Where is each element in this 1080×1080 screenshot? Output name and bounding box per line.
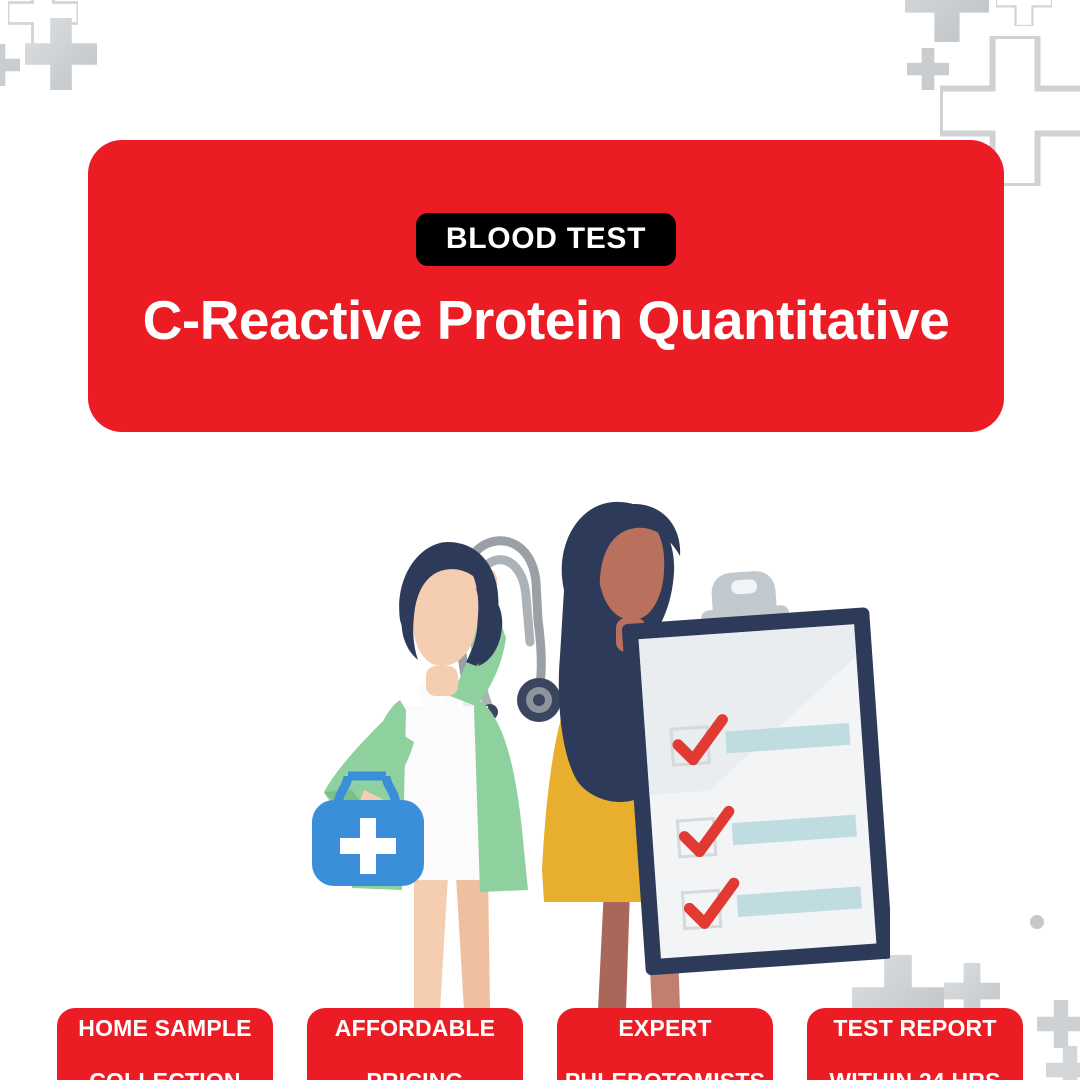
badge-line-2: COLLECTION — [63, 1068, 267, 1080]
badge-line-1: EXPERT — [563, 1015, 767, 1042]
header-banner: BLOOD TEST C-Reactive Protein Quantitati… — [88, 140, 1004, 432]
badge-line-2: WITHIN 24 HRS — [813, 1068, 1017, 1080]
badge-line-2: PRICING — [313, 1068, 517, 1080]
badge-line-2: PHLEBOTOMISTS — [563, 1068, 767, 1080]
doctor-neck — [426, 666, 458, 696]
cross-top-left-filled-icon — [25, 18, 97, 90]
feature-badge-row: HOME SAMPLE COLLECTION AFFORDABLE PRICIN… — [0, 1008, 1080, 1080]
badge-line-1: AFFORDABLE — [313, 1015, 517, 1042]
doctor-leg-left — [414, 870, 448, 1010]
feature-badge-expert-phlebotomists[interactable]: EXPERT PHLEBOTOMISTS — [557, 1008, 773, 1080]
clipboard-icon — [618, 563, 890, 975]
cross-top-right-filled-icon — [905, 0, 989, 42]
feature-badge-home-sample-collection[interactable]: HOME SAMPLE COLLECTION — [57, 1008, 273, 1080]
feature-badge-test-report-24hrs[interactable]: TEST REPORT WITHIN 24 HRS — [807, 1008, 1023, 1080]
badge-line-1: HOME SAMPLE — [63, 1015, 267, 1042]
cross-top-right-small-filled-icon — [907, 48, 949, 90]
dot-right-edge-icon — [1030, 915, 1044, 929]
cross-left-edge-small-icon — [0, 44, 20, 86]
cross-top-right-small-outline-icon — [996, 0, 1052, 26]
doctor-coat-right — [474, 698, 528, 892]
healthcare-illustration — [290, 470, 890, 1030]
page-title: C-Reactive Protein Quantitative — [88, 292, 1004, 350]
feature-badge-affordable-pricing[interactable]: AFFORDABLE PRICING — [307, 1008, 523, 1080]
poster-canvas: BLOOD TEST C-Reactive Protein Quantitati… — [0, 0, 1080, 1080]
nurse-leg-left — [598, 888, 630, 1010]
category-pill: BLOOD TEST — [416, 213, 676, 266]
badge-line-1: TEST REPORT — [813, 1015, 1017, 1042]
cross-top-left-outline-icon — [8, 0, 78, 48]
